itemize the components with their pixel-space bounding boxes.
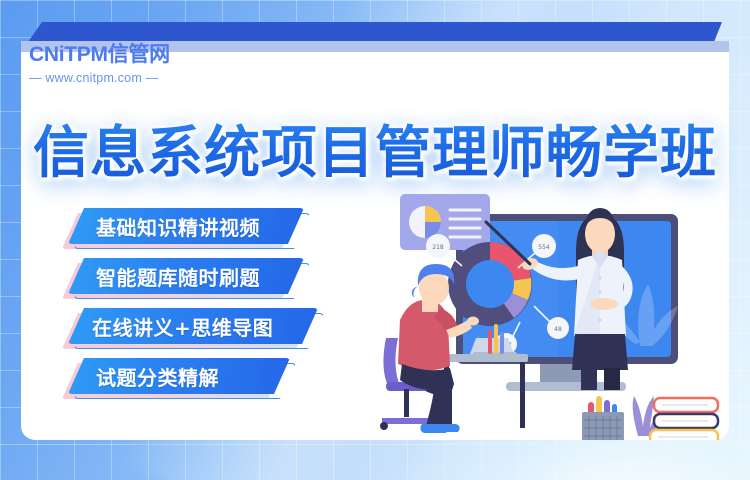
- badge-body[interactable]: 试题分类精解: [68, 358, 290, 394]
- badge-body[interactable]: 智能题库随时刷题: [68, 258, 304, 294]
- badge-label: 智能题库随时刷题: [96, 262, 260, 291]
- badge-label: 在线讲义+思维导图: [92, 312, 273, 341]
- brand-logo: CNiTPM信管网 — www.cnitpm.com —: [29, 44, 170, 85]
- top-decorative-bar: [28, 22, 722, 42]
- logo-wordmark: CNiTPM信管网: [29, 44, 170, 65]
- svg-text:48: 48: [554, 326, 562, 333]
- logo-website: — www.cnitpm.com —: [29, 71, 170, 85]
- online-classroom-illustration: 218 554 48 407: [378, 186, 722, 440]
- badge-body[interactable]: 基础知识精讲视频: [68, 208, 304, 244]
- badge-body[interactable]: 在线讲义+思维导图: [68, 308, 318, 344]
- svg-text:554: 554: [538, 244, 550, 251]
- svg-text:218: 218: [432, 244, 444, 251]
- badge-label: 试题分类精解: [96, 362, 219, 391]
- poster-canvas: CNiTPM信管网 — www.cnitpm.com — 信息系统项目管理师畅学…: [0, 0, 750, 480]
- badge-label: 基础知识精讲视频: [96, 212, 260, 241]
- page-title: 信息系统项目管理师畅学班: [33, 108, 717, 189]
